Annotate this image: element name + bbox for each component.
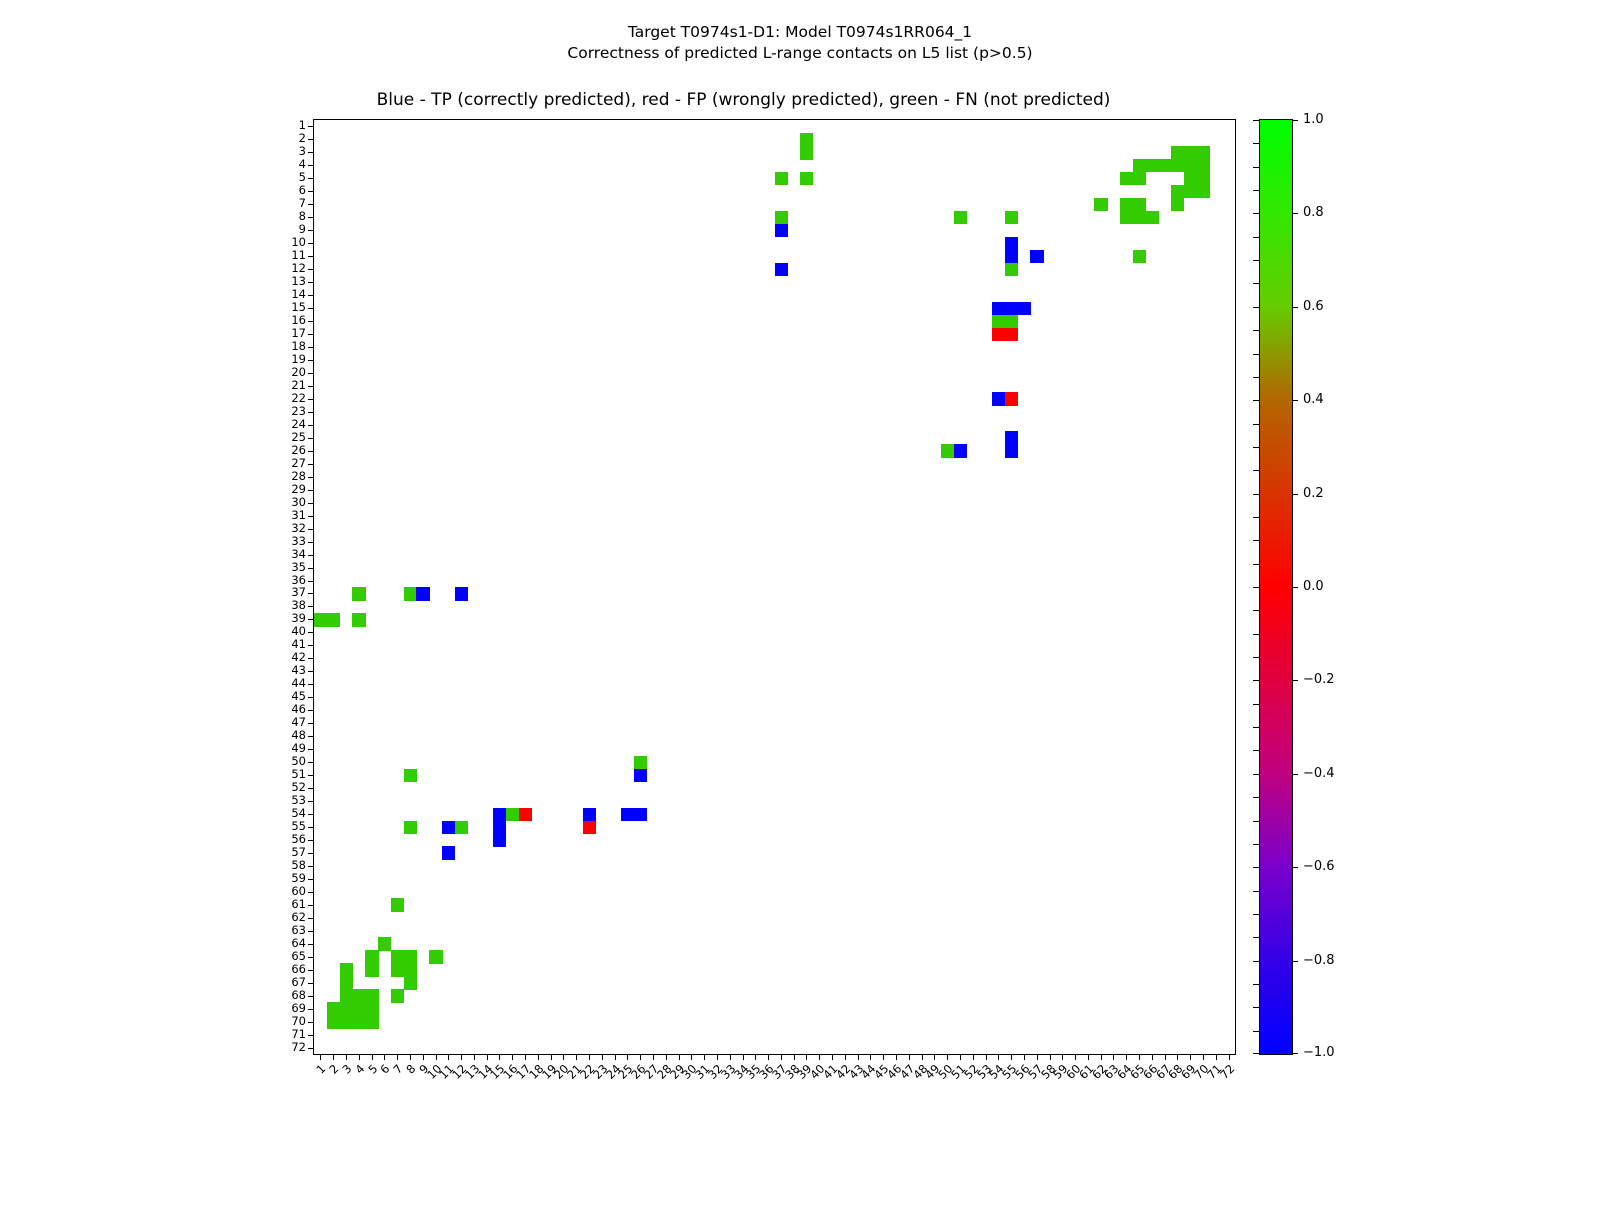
contact-cell <box>365 989 378 1003</box>
colorbar-tick <box>1292 213 1298 214</box>
contact-cell <box>1145 211 1158 225</box>
colorbar-tick-label: −0.4 <box>1303 767 1335 780</box>
x-axis-tick <box>666 1054 667 1060</box>
contact-cell <box>583 808 596 822</box>
y-axis-tick-label: 63 <box>291 925 306 937</box>
y-axis-tick <box>308 568 314 569</box>
y-axis-tick <box>308 373 314 374</box>
contact-cell <box>352 1015 365 1029</box>
contact-cell <box>1171 146 1184 160</box>
contact-cell <box>1120 211 1133 225</box>
y-axis-tick-label: 62 <box>291 912 306 924</box>
contact-cell <box>378 937 391 951</box>
y-axis-tick <box>308 542 314 543</box>
x-axis-tick <box>934 1054 935 1060</box>
colorbar-minor-tick <box>1253 727 1260 728</box>
contact-cell <box>391 950 404 964</box>
contact-cell <box>352 613 365 627</box>
colorbar-minor-tick <box>1253 680 1260 681</box>
x-axis-tick <box>832 1054 833 1060</box>
y-axis-tick <box>308 256 314 257</box>
contact-cell <box>404 950 417 964</box>
y-axis-tick-label: 52 <box>291 782 306 794</box>
y-axis-tick <box>308 282 314 283</box>
contact-cell <box>404 976 417 990</box>
y-axis-tick-label: 13 <box>291 276 306 288</box>
y-axis-tick <box>308 334 314 335</box>
colorbar-tick <box>1292 867 1298 868</box>
y-axis-tick-label: 3 <box>299 146 306 158</box>
y-axis-tick-label: 35 <box>291 562 306 574</box>
y-axis-tick-label: 27 <box>291 458 306 470</box>
contact-cell <box>941 444 954 458</box>
colorbar-minor-tick <box>1253 961 1260 962</box>
y-axis-tick-label: 48 <box>291 730 306 742</box>
y-axis-tick-label: 71 <box>291 1029 306 1041</box>
contact-cell <box>775 224 788 238</box>
colorbar-minor-tick <box>1253 634 1260 635</box>
y-axis-tick-label: 53 <box>291 795 306 807</box>
contact-cell <box>621 808 634 822</box>
y-axis-tick-label: 16 <box>291 315 306 327</box>
y-axis-tick <box>308 723 314 724</box>
y-axis-tick-label: 12 <box>291 263 306 275</box>
y-axis-tick-label: 39 <box>291 613 306 625</box>
colorbar-tick-label: −0.8 <box>1303 954 1335 967</box>
y-axis-tick-label: 19 <box>291 354 306 366</box>
y-axis-tick <box>308 645 314 646</box>
y-axis-tick <box>308 191 314 192</box>
x-axis-tick <box>1165 1054 1166 1060</box>
colorbar-minor-tick <box>1253 400 1260 401</box>
contact-cell <box>1184 146 1197 160</box>
contact-cell <box>634 808 647 822</box>
contact-cell <box>327 613 340 627</box>
y-axis-tick-label: 23 <box>291 406 306 418</box>
colorbar-minor-tick <box>1253 891 1260 892</box>
x-axis-tick <box>615 1054 616 1060</box>
x-axis-tick <box>1037 1054 1038 1060</box>
x-axis-tick <box>576 1054 577 1060</box>
contact-cell <box>800 172 813 186</box>
y-axis-tick <box>308 295 314 296</box>
colorbar-tick-label: −0.2 <box>1303 673 1335 686</box>
x-axis-tick <box>1050 1054 1051 1060</box>
y-axis-tick <box>308 165 314 166</box>
x-axis-tick <box>423 1054 424 1060</box>
colorbar-minor-tick <box>1253 143 1260 144</box>
y-axis-tick <box>308 749 314 750</box>
y-axis-tick-label: 55 <box>291 821 306 833</box>
y-axis-tick <box>308 593 314 594</box>
y-axis-tick-label: 1 <box>299 120 306 132</box>
x-axis-tick <box>627 1054 628 1060</box>
y-axis-tick <box>308 464 314 465</box>
y-axis-tick-label: 67 <box>291 977 306 989</box>
y-axis-tick <box>308 399 314 400</box>
contact-cell <box>1145 159 1158 173</box>
colorbar-gradient <box>1260 120 1292 1054</box>
contact-cell <box>1005 211 1018 225</box>
contact-cell <box>352 587 365 601</box>
x-axis-tick <box>960 1054 961 1060</box>
colorbar-minor-tick <box>1253 307 1260 308</box>
contact-cell <box>1005 237 1018 251</box>
colorbar-minor-tick <box>1253 540 1260 541</box>
contact-cell <box>519 808 532 822</box>
x-axis-tick <box>538 1054 539 1060</box>
x-axis-tick <box>704 1054 705 1060</box>
x-axis-tick <box>743 1054 744 1060</box>
contact-cell <box>1094 198 1107 212</box>
y-axis-tick <box>308 996 314 997</box>
x-axis-tick <box>1126 1054 1127 1060</box>
contact-cell <box>1120 172 1133 186</box>
contact-cell <box>992 328 1005 342</box>
y-axis-tick-label: 42 <box>291 652 306 664</box>
x-axis-tick <box>346 1054 347 1060</box>
contact-cell <box>391 898 404 912</box>
contact-cell <box>1197 185 1210 199</box>
y-axis-tick <box>308 477 314 478</box>
y-axis-tick <box>308 451 314 452</box>
x-axis-tick <box>845 1054 846 1060</box>
x-axis-tick <box>922 1054 923 1060</box>
contact-cell <box>493 821 506 835</box>
x-axis-tick <box>819 1054 820 1060</box>
y-axis-tick-label: 54 <box>291 808 306 820</box>
contact-cell <box>455 587 468 601</box>
colorbar-minor-tick <box>1253 914 1260 915</box>
y-axis-tick <box>308 775 314 776</box>
y-axis-tick <box>308 840 314 841</box>
colorbar-minor-tick <box>1253 564 1260 565</box>
y-axis-tick-label: 5 <box>299 172 306 184</box>
contact-cell <box>1133 172 1146 186</box>
contact-cell <box>800 146 813 160</box>
colorbar-minor-tick <box>1253 260 1260 261</box>
contact-cell <box>954 444 967 458</box>
y-axis-tick-label: 38 <box>291 600 306 612</box>
colorbar-tick <box>1292 961 1298 962</box>
y-axis-tick-label: 4 <box>299 159 306 171</box>
colorbar-minor-tick <box>1253 937 1260 938</box>
y-axis-tick <box>308 632 314 633</box>
y-axis-tick <box>308 658 314 659</box>
contact-cell <box>352 989 365 1003</box>
contact-cell <box>1184 185 1197 199</box>
y-axis-tick-label: 37 <box>291 587 306 599</box>
colorbar-minor-tick <box>1253 213 1260 214</box>
colorbar-minor-tick <box>1253 657 1260 658</box>
y-axis-tick-label: 59 <box>291 873 306 885</box>
y-axis-tick-label: 60 <box>291 886 306 898</box>
x-axis-tick <box>730 1054 731 1060</box>
contact-cell <box>365 1015 378 1029</box>
x-axis-tick <box>333 1054 334 1060</box>
colorbar-minor-tick <box>1253 447 1260 448</box>
x-axis-tick <box>858 1054 859 1060</box>
x-axis-tick <box>448 1054 449 1060</box>
contact-cell <box>1005 444 1018 458</box>
contact-cell <box>506 808 519 822</box>
colorbar-minor-tick <box>1253 750 1260 751</box>
colorbar-minor-tick <box>1253 704 1260 705</box>
y-axis-tick-label: 2 <box>299 133 306 145</box>
contact-cell <box>340 989 353 1003</box>
y-axis-tick-label: 34 <box>291 549 306 561</box>
y-axis-tick <box>308 814 314 815</box>
x-axis-tick <box>640 1054 641 1060</box>
y-axis-tick-label: 30 <box>291 497 306 509</box>
contact-cell <box>1197 172 1210 186</box>
colorbar-tick <box>1292 774 1298 775</box>
y-axis-tick <box>308 905 314 906</box>
contact-cell <box>1005 431 1018 445</box>
x-axis-tick <box>512 1054 513 1060</box>
contact-cell <box>634 769 647 783</box>
colorbar-tick-label: 0.0 <box>1303 580 1324 593</box>
contact-cell <box>992 315 1005 329</box>
x-axis-tick <box>768 1054 769 1060</box>
contact-cell <box>404 587 417 601</box>
y-axis-tick <box>308 425 314 426</box>
x-axis-tick <box>384 1054 385 1060</box>
colorbar-tick-label: −0.6 <box>1303 860 1335 873</box>
contact-cell <box>775 263 788 277</box>
x-axis-tick <box>1113 1054 1114 1060</box>
contact-cell <box>1005 250 1018 264</box>
y-axis-tick-label: 58 <box>291 860 306 872</box>
contact-map-plot-area: 1234567891011121314151617181920212223242… <box>313 119 1236 1055</box>
contact-cell <box>416 587 429 601</box>
contact-cell <box>404 769 417 783</box>
y-axis-tick-label: 11 <box>291 250 306 262</box>
x-axis-tick <box>691 1054 692 1060</box>
contact-cell <box>1005 315 1018 329</box>
y-axis-tick-label: 6 <box>299 185 306 197</box>
contact-cell <box>1133 159 1146 173</box>
y-axis-tick <box>308 970 314 971</box>
y-axis-tick <box>308 386 314 387</box>
colorbar-tick <box>1292 1053 1298 1054</box>
colorbar-tick <box>1292 307 1298 308</box>
colorbar-minor-tick <box>1253 424 1260 425</box>
x-axis-tick <box>909 1054 910 1060</box>
contact-cell <box>1133 211 1146 225</box>
colorbar-minor-tick <box>1253 377 1260 378</box>
y-axis-tick <box>308 581 314 582</box>
colorbar-tick <box>1292 494 1298 495</box>
colorbar-minor-tick <box>1253 610 1260 611</box>
colorbar-minor-tick <box>1253 844 1260 845</box>
colorbar-minor-tick <box>1253 470 1260 471</box>
y-axis-tick <box>308 412 314 413</box>
x-axis-tick <box>525 1054 526 1060</box>
y-axis-tick-label: 20 <box>291 367 306 379</box>
contact-cell <box>1030 250 1043 264</box>
y-axis-tick <box>308 1035 314 1036</box>
y-axis-tick-label: 36 <box>291 575 306 587</box>
colorbar: 1.00.80.60.40.20.0−0.2−0.4−0.6−0.8−1.0 <box>1259 119 1293 1055</box>
y-axis-tick <box>308 866 314 867</box>
contact-cell <box>1005 302 1018 316</box>
contact-cell <box>340 1015 353 1029</box>
x-axis-tick <box>1216 1054 1217 1060</box>
y-axis-tick-label: 8 <box>299 211 306 223</box>
colorbar-minor-tick <box>1253 774 1260 775</box>
colorbar-minor-tick <box>1253 283 1260 284</box>
y-axis-tick-label: 46 <box>291 704 306 716</box>
y-axis-tick <box>308 308 314 309</box>
y-axis-tick-label: 49 <box>291 743 306 755</box>
y-axis-tick <box>308 827 314 828</box>
y-axis-tick-label: 65 <box>291 951 306 963</box>
colorbar-minor-tick <box>1253 237 1260 238</box>
y-axis-tick <box>308 152 314 153</box>
x-axis-tick <box>870 1054 871 1060</box>
contact-cell <box>327 1015 340 1029</box>
y-axis-tick <box>308 931 314 932</box>
y-axis-tick-label: 21 <box>291 380 306 392</box>
colorbar-minor-tick <box>1253 167 1260 168</box>
y-axis-tick <box>308 438 314 439</box>
contact-cell <box>1005 263 1018 277</box>
contact-map-figure: Target T0974s1-D1: Model T0974s1RR064_1 … <box>0 0 1600 1200</box>
contact-cell <box>1005 328 1018 342</box>
colorbar-minor-tick <box>1253 797 1260 798</box>
x-axis-tick <box>717 1054 718 1060</box>
y-axis-tick <box>308 230 314 231</box>
contact-cell <box>634 756 647 770</box>
x-axis-tick <box>563 1054 564 1060</box>
x-axis-tick <box>781 1054 782 1060</box>
contact-cell <box>404 963 417 977</box>
contact-cell <box>1158 159 1171 173</box>
x-axis-tick <box>1062 1054 1063 1060</box>
y-axis-tick <box>308 204 314 205</box>
x-axis-tick <box>499 1054 500 1060</box>
y-axis-tick <box>308 853 314 854</box>
y-axis-tick-label: 41 <box>291 639 306 651</box>
colorbar-minor-tick <box>1253 1031 1260 1032</box>
contact-cell <box>493 808 506 822</box>
y-axis-tick <box>308 516 314 517</box>
y-axis-tick-label: 29 <box>291 484 306 496</box>
x-axis-tick <box>998 1054 999 1060</box>
colorbar-tick-label: 0.6 <box>1303 300 1324 313</box>
y-axis-tick-label: 40 <box>291 626 306 638</box>
x-axis-tick <box>1101 1054 1102 1060</box>
y-axis-tick-label: 33 <box>291 536 306 548</box>
contact-cell <box>775 172 788 186</box>
colorbar-minor-tick <box>1253 517 1260 518</box>
y-axis-tick-label: 18 <box>291 341 306 353</box>
colorbar-minor-tick <box>1253 120 1260 121</box>
x-axis-tick <box>1177 1054 1178 1060</box>
x-axis-tick <box>410 1054 411 1060</box>
y-axis-tick <box>308 606 314 607</box>
contact-cell <box>1171 198 1184 212</box>
x-axis-tick <box>436 1054 437 1060</box>
y-axis-tick-label: 61 <box>291 899 306 911</box>
x-axis-tick <box>602 1054 603 1060</box>
y-axis-tick <box>308 269 314 270</box>
contact-cell <box>314 613 327 627</box>
contact-cell <box>429 950 442 964</box>
y-axis-tick-label: 47 <box>291 717 306 729</box>
colorbar-minor-tick <box>1253 867 1260 868</box>
colorbar-minor-tick <box>1253 190 1260 191</box>
y-axis-tick <box>308 503 314 504</box>
x-axis-tick <box>947 1054 948 1060</box>
contact-cell <box>340 963 353 977</box>
colorbar-minor-tick <box>1253 984 1260 985</box>
x-axis-tick <box>1075 1054 1076 1060</box>
contact-cell <box>1197 146 1210 160</box>
y-axis-tick <box>308 710 314 711</box>
y-axis-tick-label: 31 <box>291 510 306 522</box>
x-axis-tick <box>653 1054 654 1060</box>
y-axis-tick-label: 32 <box>291 523 306 535</box>
contact-cell <box>1171 185 1184 199</box>
y-axis-tick <box>308 762 314 763</box>
x-axis-tick <box>372 1054 373 1060</box>
x-axis-tick <box>1139 1054 1140 1060</box>
x-axis-tick <box>896 1054 897 1060</box>
y-axis-tick <box>308 671 314 672</box>
y-axis-tick-label: 26 <box>291 445 306 457</box>
contact-cell <box>954 211 967 225</box>
y-axis-tick-label: 50 <box>291 756 306 768</box>
y-axis-tick-label: 69 <box>291 1003 306 1015</box>
y-axis-tick <box>308 788 314 789</box>
figure-suptitle-line-1: Target T0974s1-D1: Model T0974s1RR064_1 <box>0 22 1600 43</box>
colorbar-tick <box>1292 680 1298 681</box>
y-axis-tick <box>308 918 314 919</box>
y-axis-tick-label: 66 <box>291 964 306 976</box>
x-axis-tick <box>359 1054 360 1060</box>
y-axis-tick <box>308 490 314 491</box>
colorbar-minor-tick <box>1253 494 1260 495</box>
x-axis-tick <box>474 1054 475 1060</box>
y-axis-tick <box>308 126 314 127</box>
contact-cell <box>1120 198 1133 212</box>
y-axis-tick-label: 15 <box>291 302 306 314</box>
x-axis-tick <box>1024 1054 1025 1060</box>
contact-cell <box>1133 198 1146 212</box>
contact-cell <box>992 392 1005 406</box>
colorbar-tick-label: 0.8 <box>1303 206 1324 219</box>
contact-cell <box>365 950 378 964</box>
y-axis-tick-label: 44 <box>291 678 306 690</box>
y-axis-tick-label: 64 <box>291 938 306 950</box>
x-axis-tick <box>1229 1054 1230 1060</box>
contact-cell <box>442 821 455 835</box>
contact-cell <box>1184 159 1197 173</box>
contact-cell <box>455 821 468 835</box>
y-axis-tick-label: 17 <box>291 328 306 340</box>
contact-cell <box>800 133 813 147</box>
y-axis-tick-label: 72 <box>291 1042 306 1054</box>
axes-title-legend: Blue - TP (correctly predicted), red - F… <box>253 90 1234 110</box>
figure-suptitle-line-2: Correctness of predicted L-range contact… <box>0 43 1600 64</box>
y-axis-tick-label: 68 <box>291 990 306 1002</box>
contact-cell <box>1197 159 1210 173</box>
y-axis-tick-label: 25 <box>291 432 306 444</box>
y-axis-tick <box>308 879 314 880</box>
y-axis-tick <box>308 178 314 179</box>
